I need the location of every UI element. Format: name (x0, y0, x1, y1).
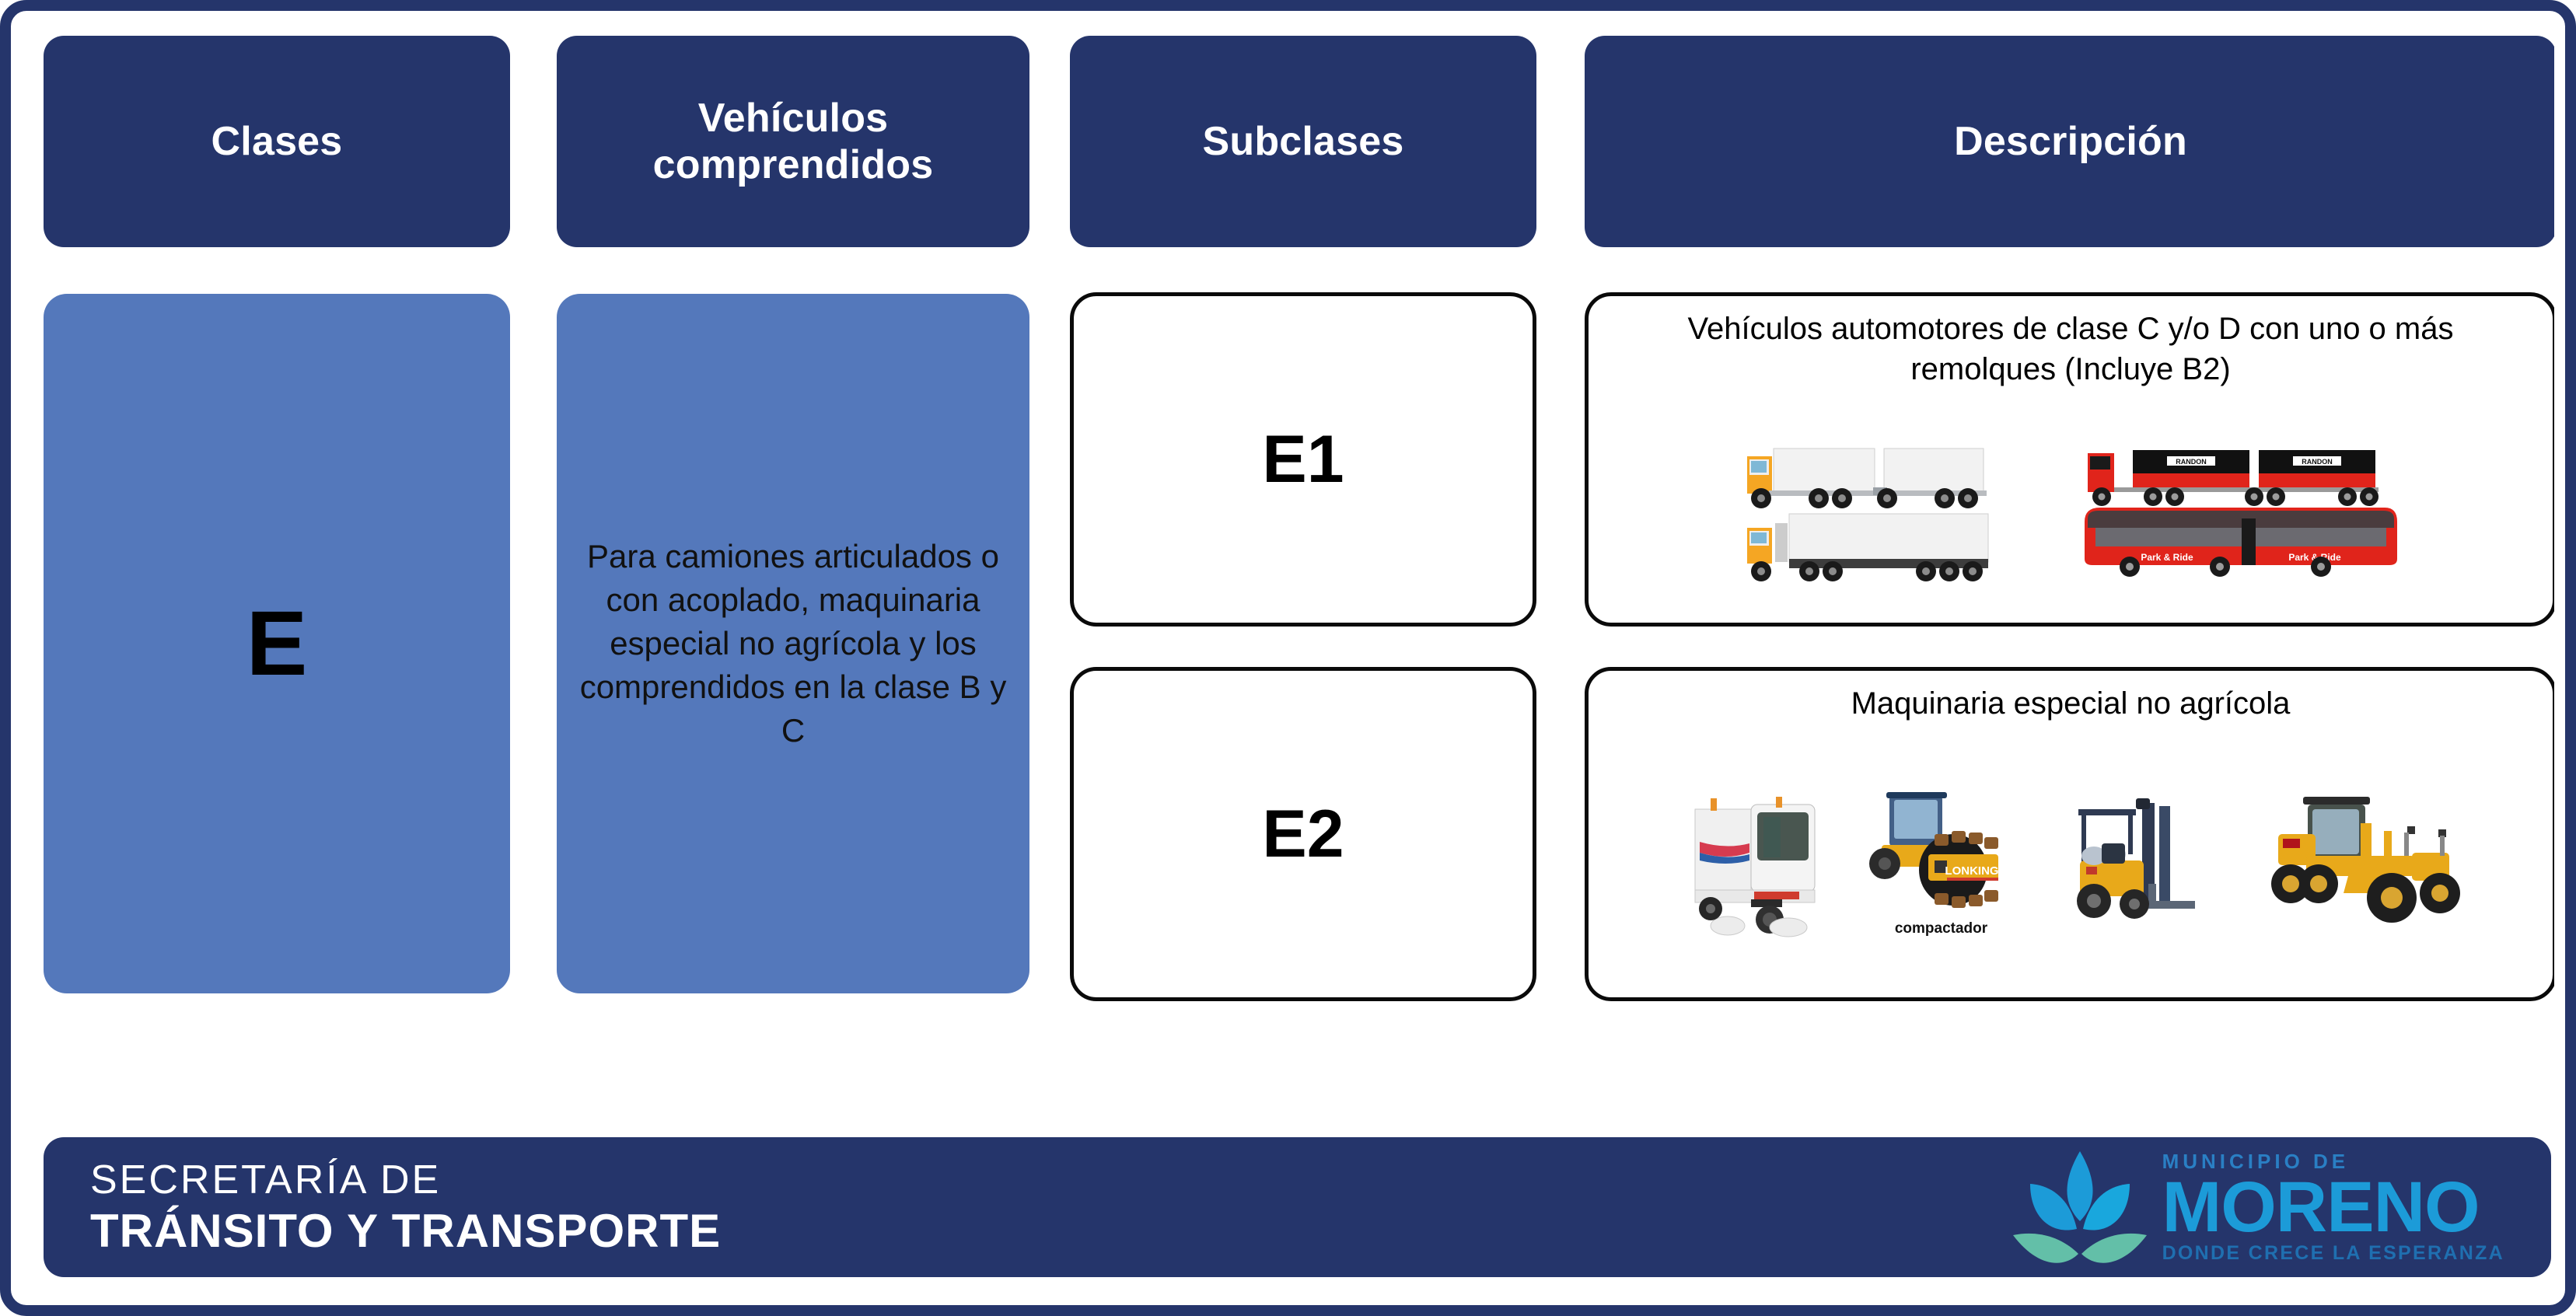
header-label-clases: Clases (211, 118, 343, 165)
svg-text:Park & Ride: Park & Ride (2141, 552, 2193, 563)
yellow-truck-with-two-white-trailers-icon (1718, 422, 2044, 585)
footer-bar: SECRETARÍA DE TRÁNSITO Y TRANSPORTE MUNI… (44, 1137, 2551, 1277)
description-images-e1: RANDON RANDON (1589, 389, 2553, 623)
municipality-logo: MUNICIPIO DE MORENO DONDE CRECE LA ESPER… (2010, 1145, 2504, 1269)
class-letter: E (246, 598, 308, 689)
header-label-descripcion: Descripción (1954, 118, 2187, 165)
class-cell-e: E (44, 294, 510, 993)
header-cell-subclases: Subclases (1070, 36, 1536, 247)
compactor-roller-icon: LONKING (1854, 780, 2029, 923)
svg-text:RANDON: RANDON (2302, 458, 2333, 466)
poster-frame: Clases Vehículos comprendidos Subclases … (0, 0, 2576, 1316)
header-cell-descripcion: Descripción (1585, 36, 2554, 247)
svg-text:RANDON: RANDON (2176, 458, 2207, 466)
table-content-row: E Para camiones articulados o con acopla… (22, 263, 2554, 1001)
description-box-e1: Vehículos automotores de clase C y/o D c… (1585, 292, 2554, 627)
description-box-e2: Maquinaria especial no agrícola (1585, 667, 2554, 1001)
subclass-label-e1: E1 (1074, 296, 1533, 623)
street-sweeper-icon (1676, 775, 1840, 942)
svg-text:LONKING: LONKING (1945, 864, 1998, 878)
logo-wordmark: MUNICIPIO DE MORENO DONDE CRECE LA ESPER… (2162, 1151, 2504, 1263)
forklift-icon (2043, 775, 2218, 942)
subclass-box-e1: E1 (1070, 292, 1536, 627)
footer-line-2: TRÁNSITO Y TRANSPORTE (90, 1207, 721, 1255)
description-images-e2: LONKING compactador (1589, 724, 2553, 997)
header-label-vehiculos: Vehículos comprendidos (557, 95, 1029, 189)
table-header-row: Clases Vehículos comprendidos Subclases … (22, 22, 2554, 255)
logo-main-text: MORENO (2162, 1175, 2504, 1241)
description-text-e2: Maquinaria especial no agrícola (1823, 683, 2319, 724)
moreno-leaf-logo-icon (2010, 1145, 2150, 1269)
compactor-caption: compactador (1895, 920, 1987, 937)
header-cell-clases: Clases (44, 36, 510, 247)
description-text-e1: Vehículos automotores de clase C y/o D c… (1589, 309, 2553, 389)
subclass-box-e2: E2 (1070, 667, 1536, 1001)
subclass-label-e2: E2 (1074, 671, 1533, 997)
motor-grader-icon (2232, 775, 2465, 942)
red-truck-and-articulated-bus-icon: RANDON RANDON (2058, 422, 2424, 585)
logo-bottom-text: DONDE CRECE LA ESPERANZA (2162, 1244, 2504, 1263)
vehicles-cell: Para camiones articulados o con acoplado… (557, 294, 1029, 993)
poster-inner: Clases Vehículos comprendidos Subclases … (22, 22, 2554, 1294)
vehicles-text: Para camiones articulados o con acoplado… (571, 535, 1015, 752)
header-cell-vehiculos: Vehículos comprendidos (557, 36, 1029, 247)
header-label-subclases: Subclases (1202, 118, 1403, 165)
footer-line-1: SECRETARÍA DE (90, 1159, 721, 1201)
footer-department: SECRETARÍA DE TRÁNSITO Y TRANSPORTE (90, 1159, 721, 1255)
